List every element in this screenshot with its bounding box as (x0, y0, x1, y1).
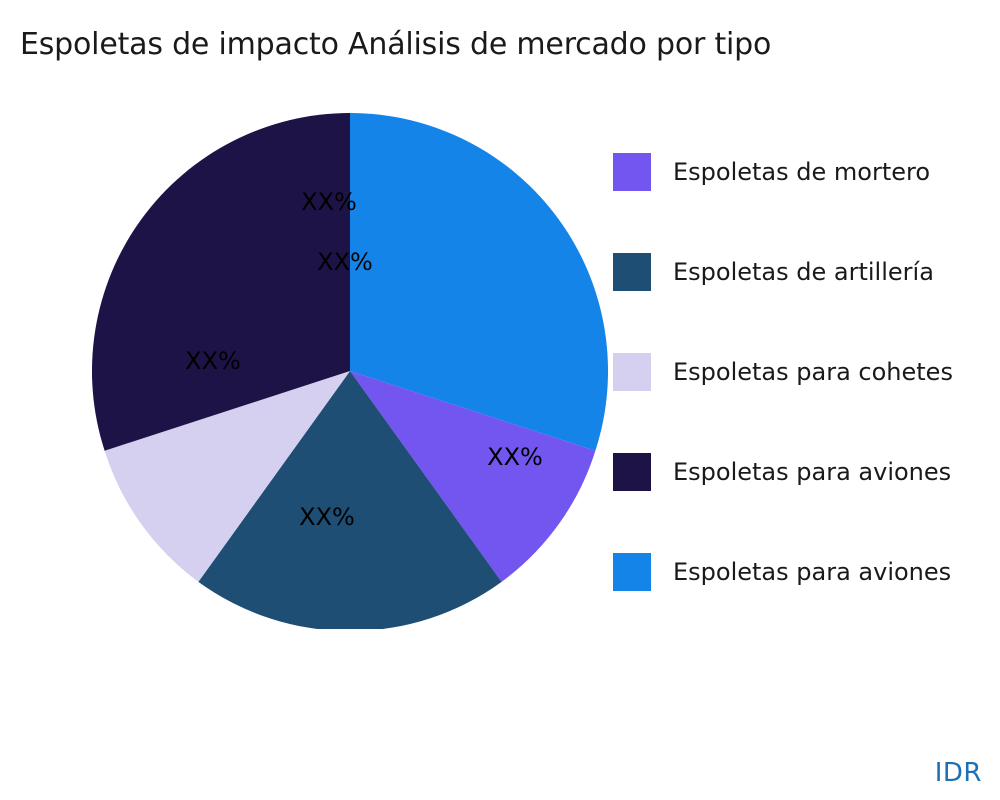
slice-label-3: XX% (301, 188, 357, 216)
page-title: Espoletas de impacto Análisis de mercado… (20, 27, 771, 62)
pie-svg: XX% XX% XX% XX% XX% (92, 113, 608, 629)
slice-label-0: XX% (487, 443, 543, 471)
legend: Espoletas de mortero Espoletas de artill… (613, 122, 1000, 622)
legend-swatch-icon (613, 153, 651, 191)
legend-swatch-icon (613, 553, 651, 591)
legend-item-espoletas-de-mortero[interactable]: Espoletas de mortero (613, 122, 1000, 222)
legend-item-espoletas-de-artilleria[interactable]: Espoletas de artillería (613, 222, 1000, 322)
legend-label: Espoletas de mortero (673, 158, 930, 186)
legend-swatch-icon (613, 353, 651, 391)
legend-swatch-icon (613, 453, 651, 491)
pie-chart-figure: Espoletas de impacto Análisis de mercado… (0, 0, 1000, 800)
slice-label-1: XX% (299, 503, 355, 531)
slice-label-4: XX% (317, 248, 373, 276)
pie-chart-plot: XX% XX% XX% XX% XX% (92, 113, 608, 629)
watermark: IDR (935, 758, 982, 788)
legend-item-espoletas-para-aviones-1[interactable]: Espoletas para aviones (613, 422, 1000, 522)
slice-label-2: XX% (185, 347, 241, 375)
legend-item-espoletas-para-aviones-2[interactable]: Espoletas para aviones (613, 522, 1000, 622)
legend-item-espoletas-para-cohetes[interactable]: Espoletas para cohetes (613, 322, 1000, 422)
legend-label: Espoletas para cohetes (673, 358, 953, 386)
legend-label: Espoletas para aviones (673, 458, 951, 486)
legend-label: Espoletas para aviones (673, 558, 951, 586)
legend-swatch-icon (613, 253, 651, 291)
legend-label: Espoletas de artillería (673, 258, 934, 286)
